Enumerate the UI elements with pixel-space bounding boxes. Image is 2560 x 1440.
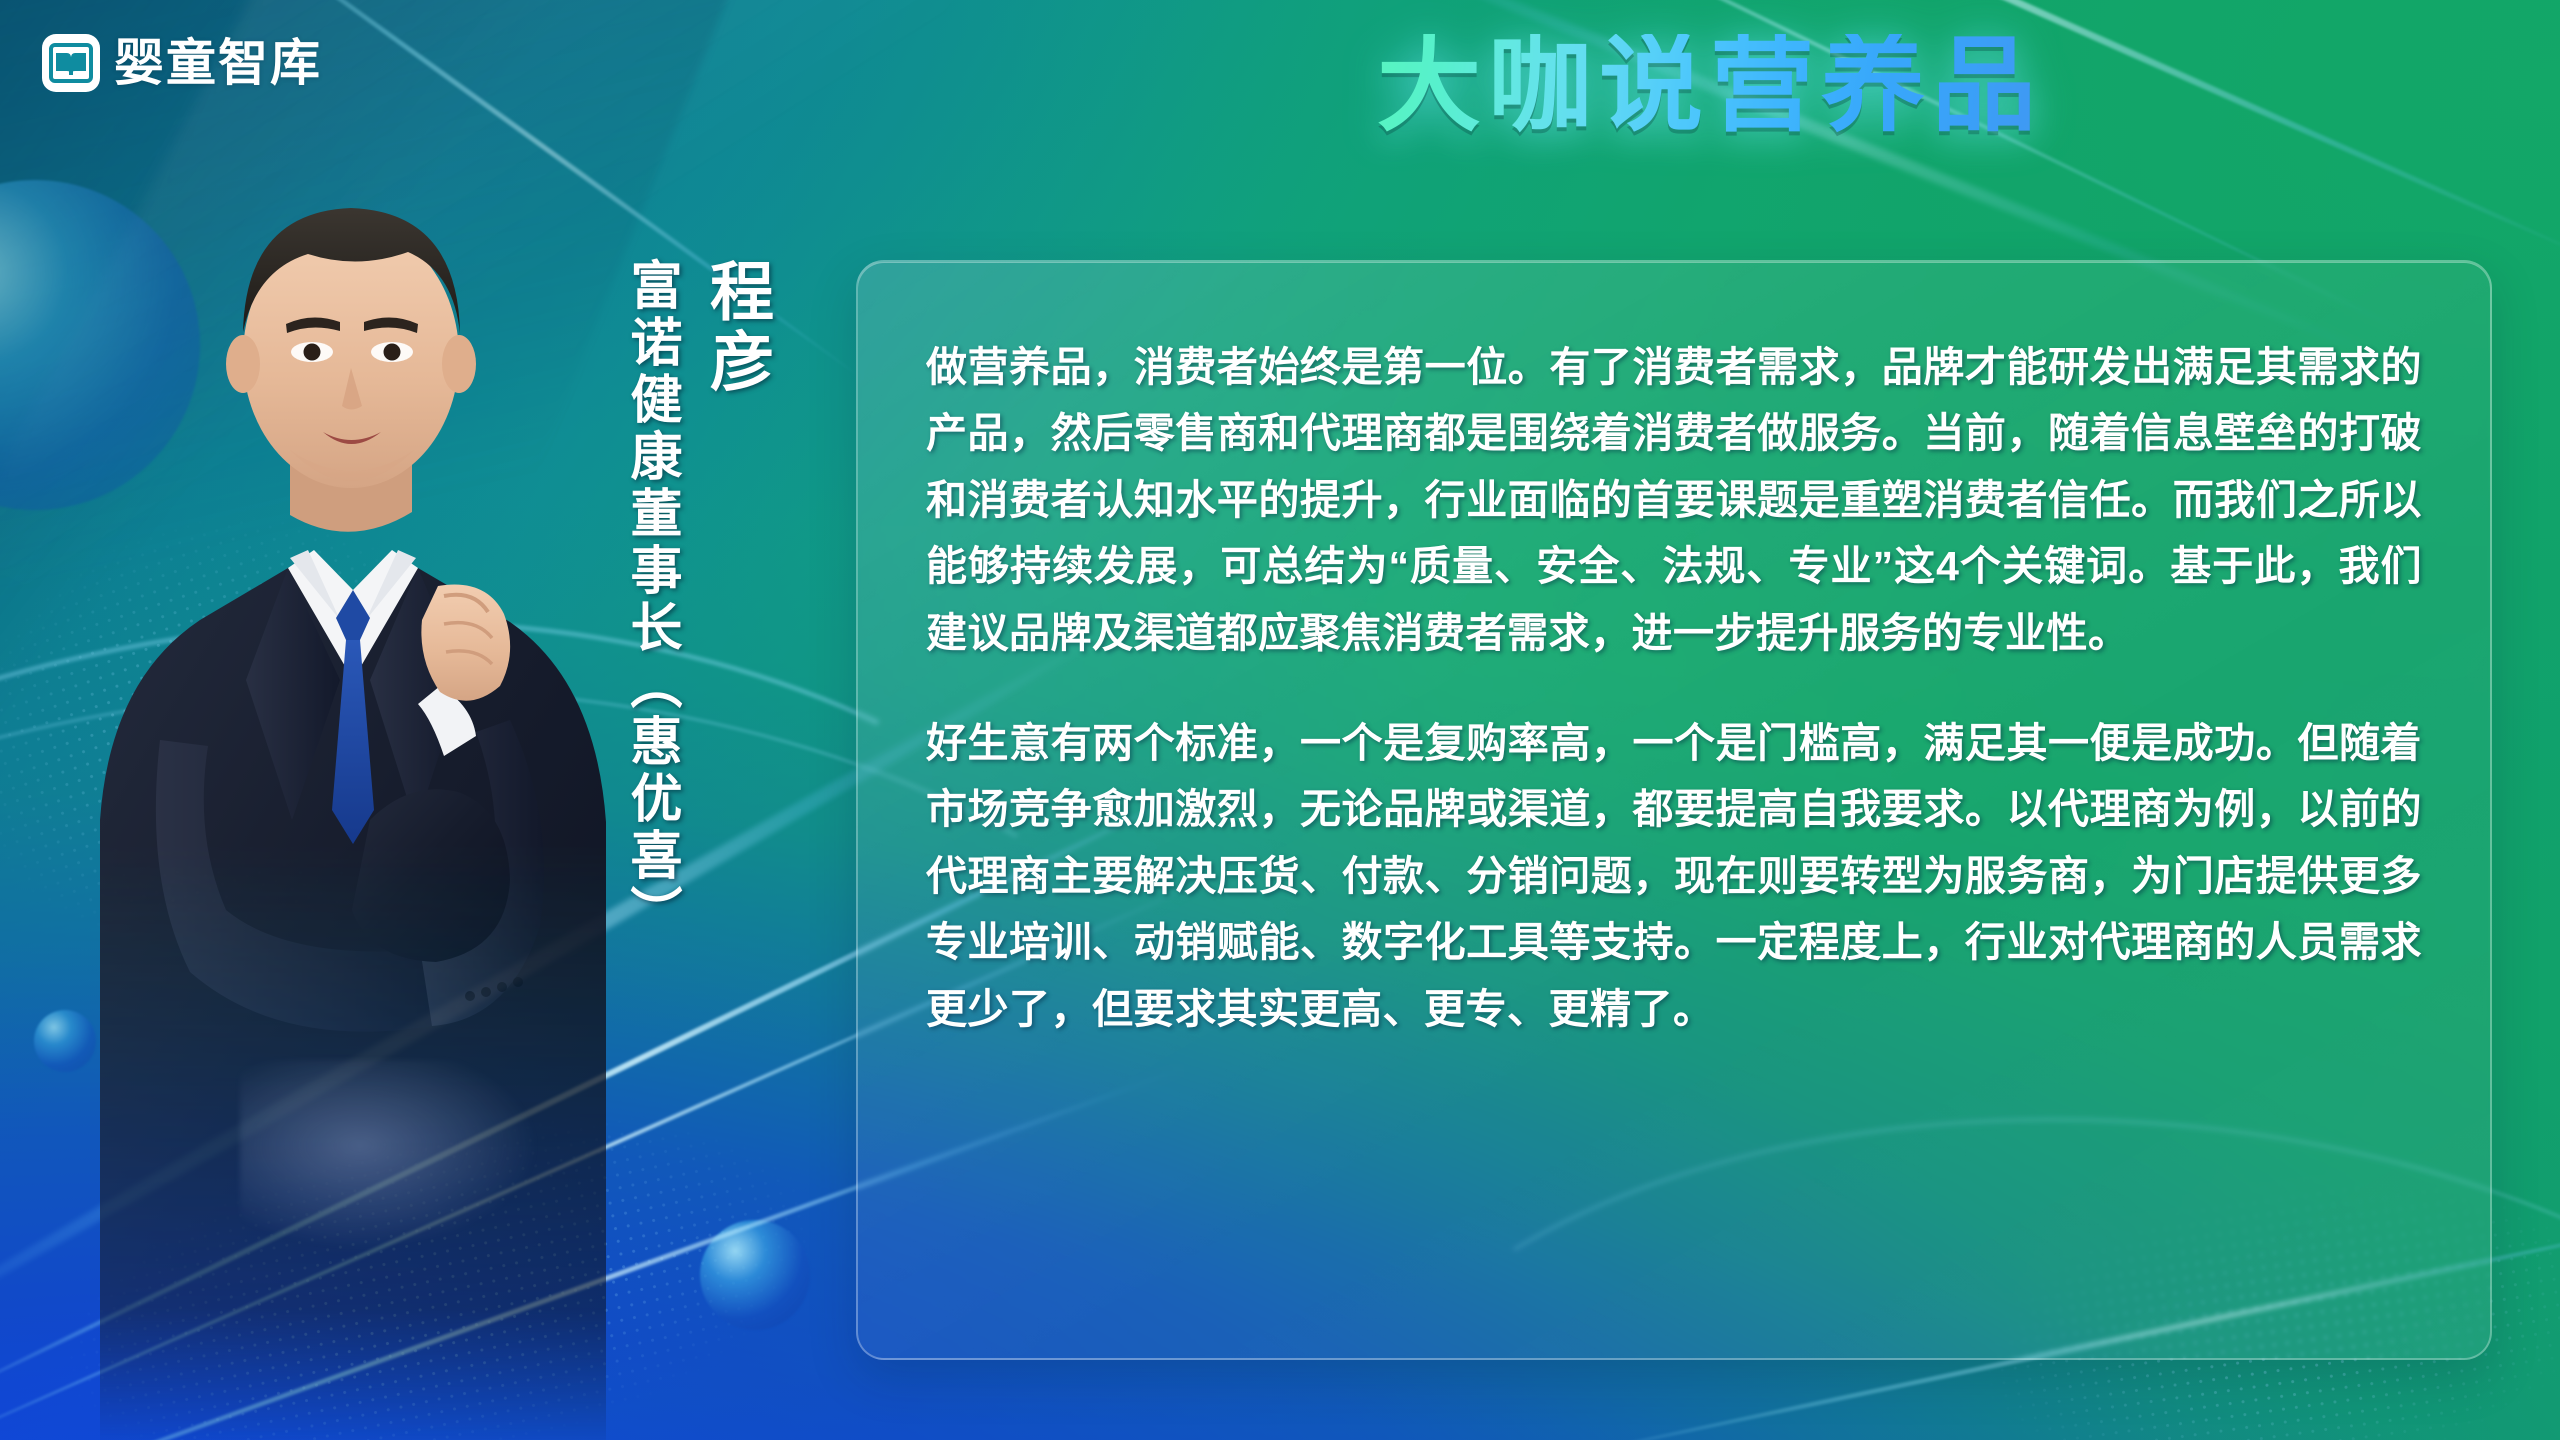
quote-paragraph-2: 好生意有两个标准，一个是复购率高，一个是门槛高，满足其一便是成功。但随着市场竞争… [926, 710, 2422, 1042]
open-book-icon [42, 34, 100, 92]
quote-body: 做营养品，消费者始终是第一位。有了消费者需求，品牌才能研发出满足其需求的产品，然… [926, 334, 2422, 1042]
quote-card: 做营养品，消费者始终是第一位。有了消费者需求，品牌才能研发出满足其需求的产品，然… [856, 260, 2492, 1360]
poster-title-block: 大咖说营养品 大咖说营养品 [1120, 26, 2300, 146]
brand-logo[interactable]: 婴童智库 [42, 34, 322, 92]
quote-paragraph-1: 做营养品，消费者始终是第一位。有了消费者需求，品牌才能研发出满足其需求的产品，然… [926, 334, 2422, 666]
poster-canvas: 婴童智库 大咖说营养品 大咖说营养品 [0, 0, 2560, 1440]
page-title: 大咖说营养品 [1377, 34, 2043, 138]
speaker-name: 程彦 [705, 258, 769, 398]
brand-name: 婴童智库 [114, 38, 322, 88]
speaker-title: 富诺健康董事长（惠优喜） [625, 258, 677, 942]
decor-ghost-hand [240, 1060, 540, 1250]
